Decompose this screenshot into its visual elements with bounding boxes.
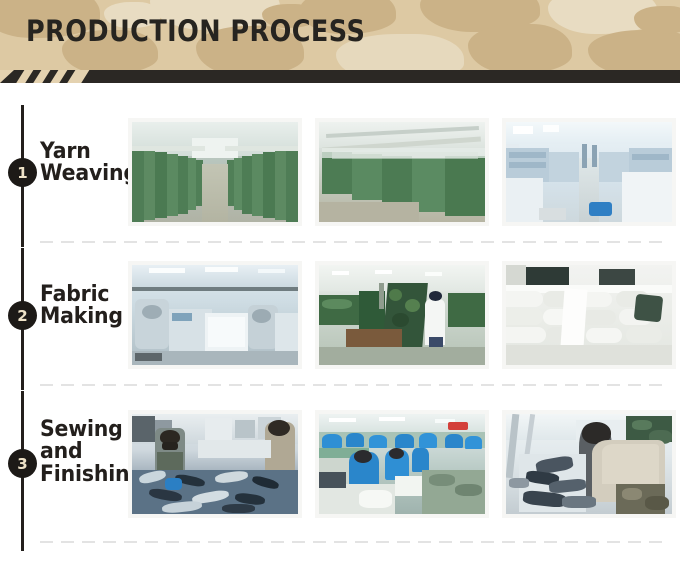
process-step-3: 3 Sewing and Finishing [0,391,680,551]
photo-knitting-machines-aisle [132,122,298,222]
slash-icon [47,70,70,83]
process-step-1: 1 Yarn Weaving [0,105,680,245]
photo-weaving-looms [132,265,298,365]
slash-icon [30,70,53,83]
step-number-2: 2 [8,301,37,330]
photo-sewing-line-workers [319,414,485,514]
step-divider [40,384,662,386]
step-number-1: 1 [8,158,37,187]
photo-stacked-fabric-bales [506,265,672,365]
step-divider [40,541,662,543]
step-1-gallery [128,118,676,226]
photo-worker-inspecting-camo-fabric [319,265,485,365]
thumbnail[interactable] [315,261,489,369]
thumbnail[interactable] [128,118,302,226]
slash-icon [13,70,36,83]
step-label-1: Yarn Weaving [40,141,138,186]
step-divider [40,241,662,243]
photo-cutting-camo-fabric [132,414,298,514]
thumbnail[interactable] [128,261,302,369]
thumbnail[interactable] [502,261,676,369]
step-2-gallery [128,261,676,369]
thumbnail[interactable] [502,118,676,226]
page-title: PRODUCTION PROCESS [26,14,365,48]
production-process-page: PRODUCTION PROCESS 1 Yarn Weaving [0,0,680,581]
thumbnail[interactable] [315,410,489,518]
step-label-2: Fabric Making [40,284,123,329]
page-header: PRODUCTION PROCESS [0,0,680,70]
thumbnail[interactable] [502,410,676,518]
process-step-2: 2 Fabric Making [0,248,680,388]
slash-icon [64,70,92,83]
photo-worker-finishing-garments [506,414,672,514]
header-accent-bar [0,70,680,83]
thumbnail[interactable] [315,118,489,226]
photo-spinning-machines-aisle [506,122,672,222]
step-number-3: 3 [8,449,37,478]
bar-wedge [0,70,14,83]
thumbnail[interactable] [128,410,302,518]
step-3-gallery [128,410,676,518]
photo-warping-machines-row [319,122,485,222]
